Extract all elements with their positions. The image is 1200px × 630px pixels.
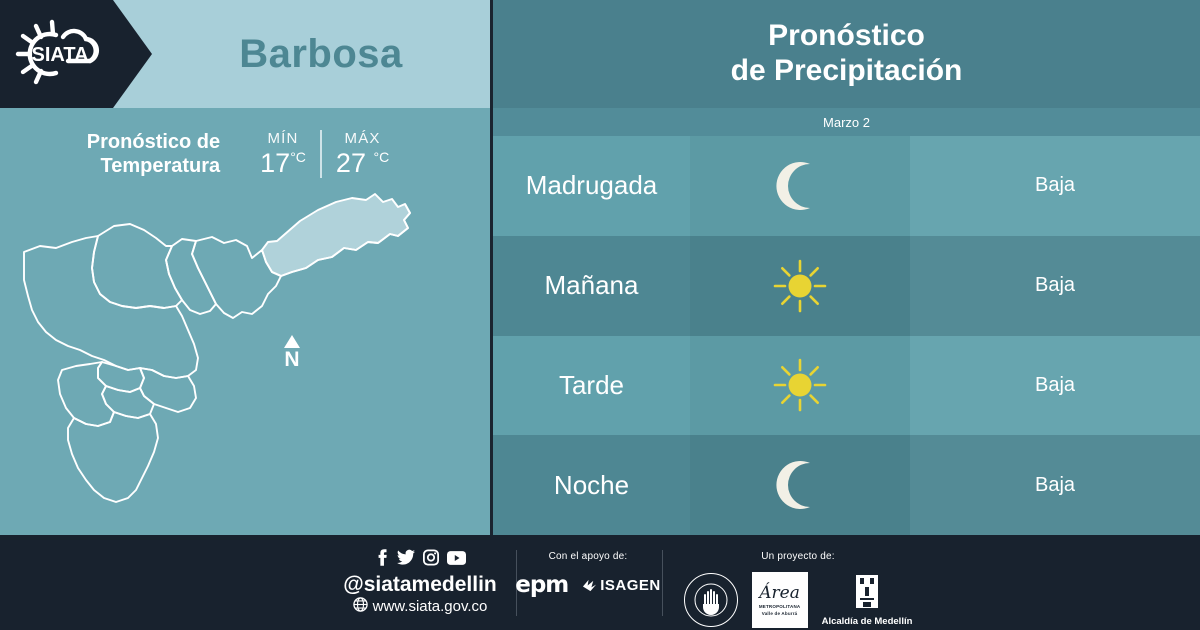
table-row[interactable]: Tarde [493,336,1200,436]
social-icons [374,549,466,571]
temperature-label-line2: Temperatura [87,154,220,178]
isagen-logo[interactable]: ISAGEN [582,577,661,594]
globe-icon [353,597,368,617]
precipitation-level: Baja [910,236,1200,336]
youtube-icon[interactable] [447,550,466,571]
city-title: Barbosa [152,0,490,108]
social-handle[interactable]: @siatamedellin [343,573,497,597]
twitter-icon[interactable] [397,549,415,571]
universidad-seal-icon[interactable] [684,573,738,627]
temperature-min-caption: MÍN [267,130,298,149]
period-label: Tarde [493,336,690,436]
precipitation-level: Baja [910,435,1200,535]
area-sub1: METROPOLITANA [759,604,801,609]
support-logos: epm ISAGEN [515,572,661,598]
right-panel: Pronóstico de Precipitación Marzo 2 Madr… [493,0,1200,535]
precipitation-title-line2: de Precipitación [731,54,963,89]
alcaldia-label: Alcaldía de Medellín [822,616,913,627]
temperature-max: MÁX 27 °C [322,130,403,177]
precipitation-header: Pronóstico de Precipitación [493,0,1200,108]
weather-infographic: SIATA Barbosa Pronóstico de Temperatura … [0,0,1200,630]
temperature-max-unit: °C [373,149,389,165]
footer-divider [662,550,663,616]
support-block: Con el apoyo de: epm ISAGEN [508,551,668,598]
forecast-date: Marzo 2 [493,108,1200,136]
siata-logo[interactable]: SIATA [0,0,152,108]
website-url: www.siata.gov.co [373,598,488,616]
table-row[interactable]: Noche Baja [493,435,1200,535]
north-arrow-triangle [284,335,300,348]
forecast-table: Madrugada Baja Mañana [493,136,1200,535]
precipitation-title-line1: Pronóstico [768,19,925,54]
temperature-min-value: 17°C [260,149,306,177]
precipitation-level: Baja [910,336,1200,436]
period-label: Mañana [493,236,690,336]
sun-cloud-icon: SIATA [10,18,114,90]
temperature-min-unit: °C [290,149,306,165]
alcaldia-medellin-logo[interactable]: Alcaldía de Medellín [822,573,913,627]
temperature-label-line1: Pronóstico de [87,130,220,154]
north-arrow-label: N [284,349,299,370]
isagen-label: ISAGEN [600,577,661,594]
area-sub2: Valle de Aburrá [762,611,798,616]
precipitation-level: Baja [910,136,1200,236]
project-block: Un proyecto de: Área METROPOLITANA Valle… [668,551,928,628]
area-metropolitana-logo[interactable]: Área METROPOLITANA Valle de Aburrá [752,572,808,628]
social-block: @siatamedellin www.siata.gov.co [330,549,510,617]
sun-icon [690,236,910,336]
left-panel: SIATA Barbosa Pronóstico de Temperatura … [0,0,490,535]
project-caption: Un proyecto de: [761,551,835,562]
temperature-label: Pronóstico de Temperatura [87,130,220,179]
temperature-values: MÍN 17°C MÁX 27 °C [246,130,403,177]
svg-text:SIATA: SIATA [31,44,88,66]
table-row[interactable]: Madrugada Baja [493,136,1200,236]
website-row[interactable]: www.siata.gov.co [353,597,488,617]
area-script-label: Área [759,585,800,602]
temperature-max-value: 27 °C [336,149,389,177]
period-label: Madrugada [493,136,690,236]
period-label: Noche [493,435,690,535]
aburra-valley-map[interactable]: N [0,180,490,535]
facebook-icon[interactable] [374,549,389,571]
moon-icon [690,136,910,236]
support-caption: Con el apoyo de: [549,551,628,562]
temperature-min: MÍN 17°C [246,130,322,177]
footer: @siatamedellin www.siata.gov.co Con el a… [0,535,1200,630]
epm-logo[interactable]: epm [515,572,568,598]
moon-icon [690,435,910,535]
project-logos: Área METROPOLITANA Valle de Aburrá [684,572,913,628]
sun-icon [690,336,910,436]
instagram-icon[interactable] [423,549,439,571]
left-banner: SIATA Barbosa [0,0,490,108]
north-arrow-icon: N [275,335,309,385]
table-row[interactable]: Mañana [493,236,1200,336]
temperature-max-caption: MÁX [345,130,381,149]
